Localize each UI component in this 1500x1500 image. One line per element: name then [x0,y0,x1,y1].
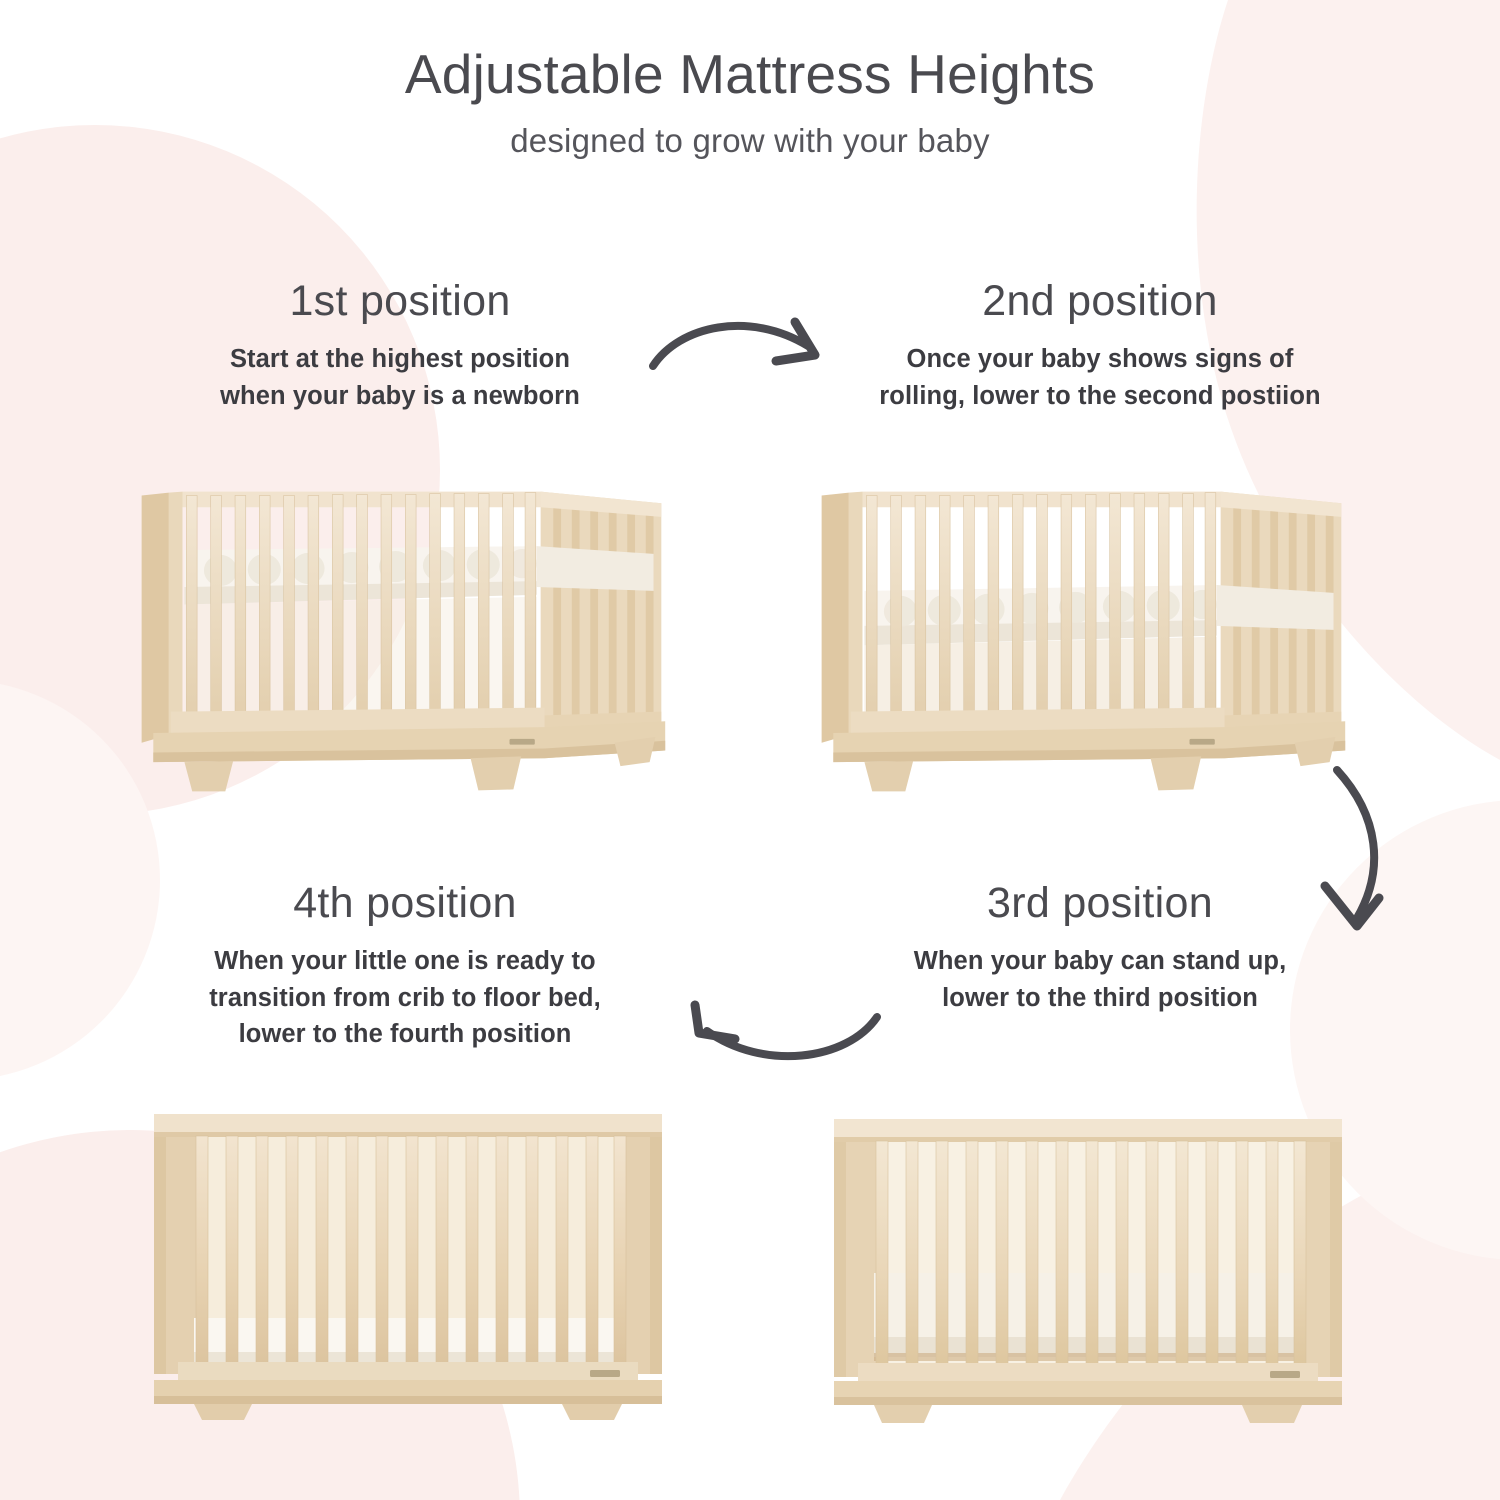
crib-image-position-1 [128,478,673,799]
position-1-header: 1st position Start at the highest positi… [110,278,690,414]
arrow-down-icon [1295,758,1435,948]
brand-badge-3 [1270,1371,1300,1378]
position-2-title: 2nd position [800,278,1400,325]
crib-2-front-slats [866,493,1215,718]
position-4-description: When your little one is ready to transit… [100,943,710,1052]
crib-illustration-2 [808,478,1353,799]
position-2-desc-line-2: rolling, lower to the second postiion [800,378,1400,414]
arrow-right-icon [645,308,860,413]
position-4-desc-line-3: lower to the fourth position [100,1016,710,1052]
crib-1-front-slats [186,493,535,718]
page-subtitle: designed to grow with your baby [0,122,1500,160]
position-2-desc-line-1: Once your baby shows signs of [800,341,1400,377]
crib-2-near-end [822,492,863,743]
position-3-desc-line-1: When your baby can stand up, [810,943,1390,979]
infographic-stage: Adjustable Mattress Heights designed to … [0,0,1500,1500]
position-2-header: 2nd position Once your baby shows signs … [800,278,1400,414]
position-panel-1: 1st position Start at the highest positi… [110,278,690,414]
header: Adjustable Mattress Heights designed to … [0,44,1500,160]
arrow-left-icon [655,975,890,1085]
crib-image-position-3 [818,1105,1358,1425]
crib-illustration-3 [818,1105,1358,1425]
position-1-title: 1st position [110,278,690,325]
position-2-description: Once your baby shows signs of rolling, l… [800,341,1400,414]
position-1-desc-line-2: when your baby is a newborn [110,378,690,414]
crib-3-legs [874,1405,1302,1423]
position-4-title: 4th position [100,880,710,927]
brand-badge-4 [590,1370,620,1377]
page-title: Adjustable Mattress Heights [0,44,1500,106]
crib-image-position-4 [138,1100,678,1420]
crib-4-legs [194,1404,622,1420]
crib-3-base [834,1381,1342,1405]
position-4-header: 4th position When your little one is rea… [100,880,710,1053]
position-1-desc-line-1: Start at the highest position [110,341,690,377]
position-4-desc-line-1: When your little one is ready to [100,943,710,979]
crib-4-base [154,1380,662,1404]
crib-3-front-slats [876,1141,1306,1365]
position-1-description: Start at the highest position when your … [110,341,690,414]
position-3-description: When your baby can stand up, lower to th… [810,943,1390,1016]
position-panel-2: 2nd position Once your baby shows signs … [800,278,1400,414]
crib-1-far-end [541,492,662,747]
position-3-desc-line-2: lower to the third position [810,980,1390,1016]
position-panel-4: 4th position When your little one is rea… [100,880,710,1053]
crib-4-front-slats [196,1136,626,1366]
crib-illustration-4 [138,1100,678,1420]
brand-badge-2 [1189,739,1214,745]
position-4-desc-line-2: transition from crib to floor bed, [100,980,710,1016]
brand-badge-1 [509,739,534,745]
crib-image-position-2 [808,478,1353,799]
crib-illustration-1 [128,478,673,799]
crib-1-near-end [142,492,183,743]
